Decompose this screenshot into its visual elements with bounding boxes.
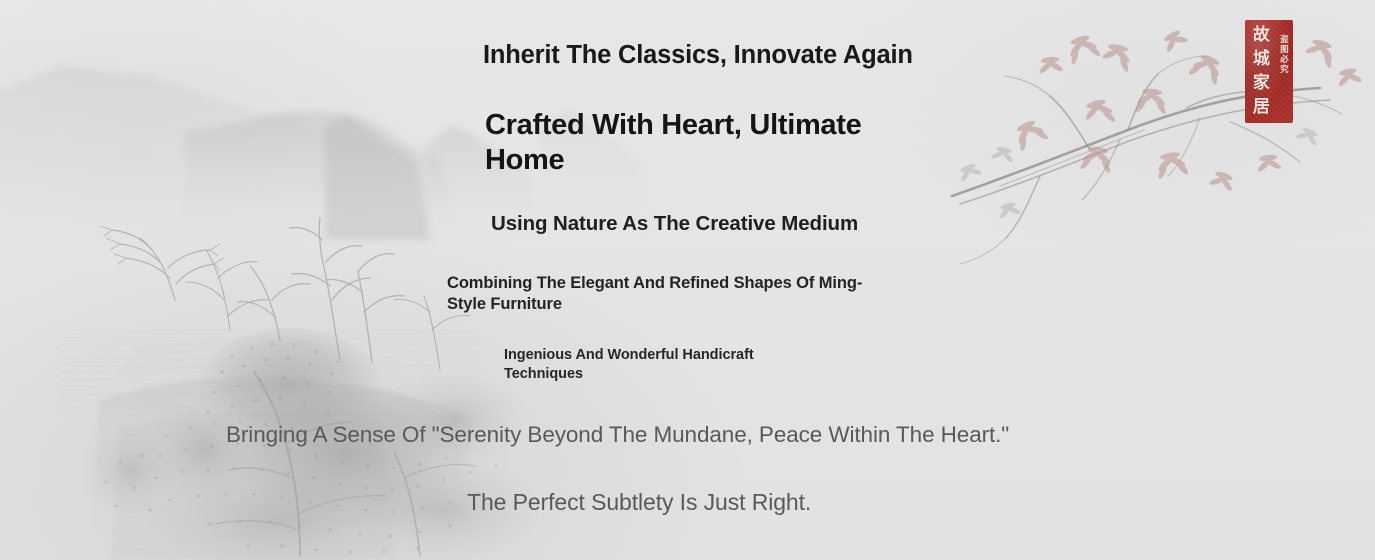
headline-primary: Inherit The Classics, Innovate Again: [483, 40, 913, 71]
closing-statement: The Perfect Subtlety Is Just Right.: [467, 488, 811, 517]
seal-char-2: 城: [1253, 51, 1270, 68]
branch-top-right: [952, 27, 1364, 264]
headline-secondary: Crafted With Heart, Ultimate Home: [485, 108, 915, 178]
seal-char-1: 故: [1253, 27, 1270, 44]
landscape-banks: [90, 341, 470, 560]
quote-serenity: Bringing A Sense Of "Serenity Beyond The…: [226, 421, 1009, 449]
seal-side-characters: 盗 图 必 究: [1276, 20, 1293, 123]
seal-char-4: 居: [1253, 99, 1270, 116]
foliage-trunks: [216, 372, 476, 556]
seal-main-characters: 故 城 家 居: [1245, 20, 1276, 123]
seal-side-char-4: 究: [1280, 66, 1289, 75]
seal-side-char-2: 图: [1280, 46, 1289, 55]
bare-trees-upper-left: [100, 218, 470, 370]
leaf-clusters: [1010, 27, 1364, 193]
seal-side-char-1: 盗: [1280, 36, 1289, 45]
seal-side-char-3: 必: [1280, 56, 1289, 65]
subhead-ming-style: Combining The Elegant And Refined Shapes…: [447, 273, 867, 315]
seal-char-3: 家: [1253, 75, 1270, 92]
brand-seal-stamp: 故 城 家 居 盗 图 必 究: [1245, 20, 1293, 123]
subhead-handicraft: Ingenious And Wonderful Handicraft Techn…: [504, 346, 824, 384]
scroll-striations: [60, 330, 480, 420]
banner-canvas: 故 城 家 居 盗 图 必 究 Inherit The Classics, In…: [0, 0, 1375, 560]
subhead-creative-medium: Using Nature As The Creative Medium: [491, 211, 858, 237]
